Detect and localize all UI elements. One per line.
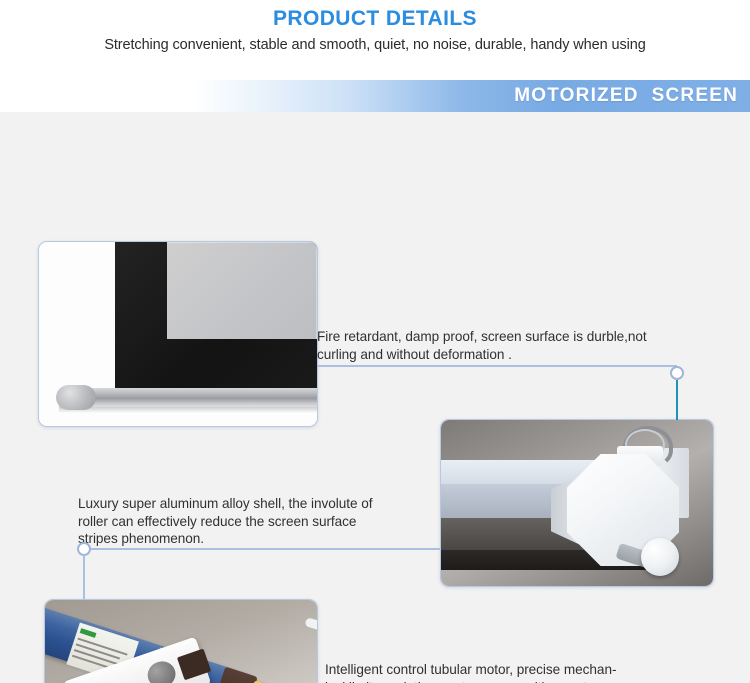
photo-aluminum-alloy-end-cap <box>440 419 714 587</box>
content-area: Fire retardant, damp proof, screen surfa… <box>0 112 750 683</box>
callout-2-node-dot <box>77 542 91 556</box>
photo-2-inner <box>441 420 713 586</box>
weight-bar-shadow <box>59 406 317 413</box>
page-subtitle: Stretching convenient, stable and smooth… <box>0 37 750 53</box>
page-title: PRODUCT DETAILS <box>0 7 750 31</box>
screen-surface-fabric <box>167 242 317 339</box>
callout-1-horizontal-line <box>317 365 677 367</box>
remote-round-button[interactable] <box>144 658 179 683</box>
banner-label: MOTORIZED SCREEN <box>514 85 738 107</box>
callout-2-text: Luxury super aluminum alloy shell, the i… <box>78 495 450 548</box>
callout-1-node-dot <box>670 366 684 380</box>
callout-3-text: Intelligent control tubular motor, preci… <box>325 661 697 683</box>
photo-1-inner <box>39 242 317 426</box>
callout-1-text: Fire retardant, damp proof, screen surfa… <box>317 328 689 363</box>
photo-3-inner <box>45 600 317 683</box>
white-knob <box>641 538 679 576</box>
screen-weight-bar <box>59 388 317 407</box>
label-green-mark <box>80 628 97 638</box>
weight-bar-end-cap <box>56 385 96 410</box>
photo-tubular-motor-with-remote <box>44 599 318 683</box>
category-banner: MOTORIZED SCREEN <box>0 80 750 112</box>
page-header: PRODUCT DETAILS Stretching convenient, s… <box>0 0 750 78</box>
photo-projection-screen-corner <box>38 241 318 427</box>
product-details-page: PRODUCT DETAILS Stretching convenient, s… <box>0 0 750 683</box>
callout-2-vertical-connector <box>83 555 85 600</box>
callout-1-vertical-connector <box>676 380 678 420</box>
callout-2-horizontal-line <box>84 548 440 550</box>
